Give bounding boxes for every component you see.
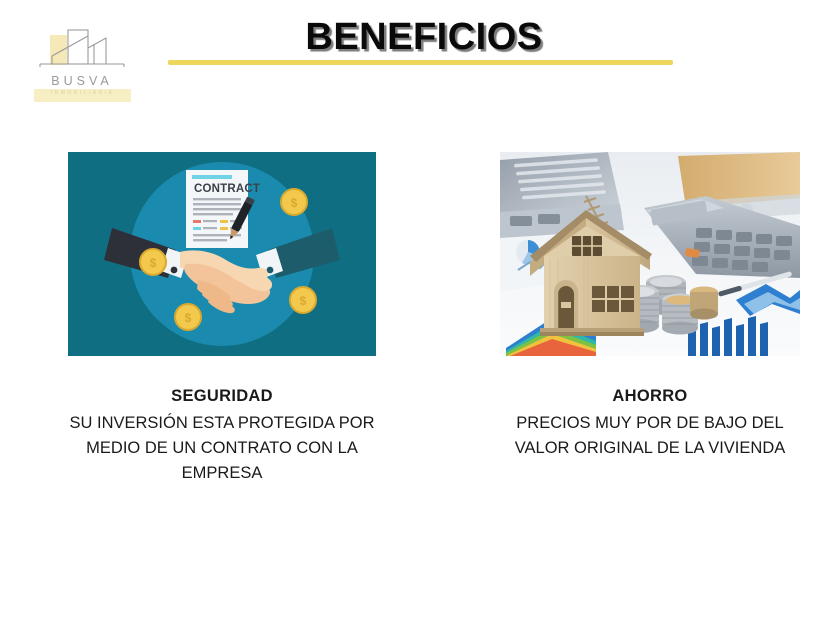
benefit-card-seguridad: CONTRACT bbox=[68, 152, 376, 486]
benefit-body: SU INVERSIÓN ESTA PROTEGIDA POR MEDIO DE… bbox=[68, 411, 376, 486]
benefit-heading: AHORRO bbox=[500, 384, 800, 409]
page-title: BENEFICIOS bbox=[0, 16, 840, 59]
svg-text:$: $ bbox=[150, 256, 157, 270]
benefit-card-ahorro: AHORRO PRECIOS MUY POR DE BAJO DEL VALOR… bbox=[500, 152, 800, 461]
svg-text:$: $ bbox=[185, 311, 192, 325]
model-house-coins-calculator-photo bbox=[500, 152, 800, 356]
logo-tagline: INMOBILIARIA bbox=[34, 90, 131, 96]
logo-wordmark: BUSVA bbox=[22, 74, 142, 88]
benefit-caption-ahorro: AHORRO PRECIOS MUY POR DE BAJO DEL VALOR… bbox=[500, 384, 800, 461]
title-underline-rule bbox=[168, 60, 673, 65]
handshake-contract-illustration: CONTRACT bbox=[68, 152, 376, 356]
svg-text:$: $ bbox=[291, 196, 298, 210]
benefit-caption-seguridad: SEGURIDAD SU INVERSIÓN ESTA PROTEGIDA PO… bbox=[68, 384, 376, 486]
benefit-heading: SEGURIDAD bbox=[68, 384, 376, 409]
svg-text:$: $ bbox=[300, 294, 307, 308]
svg-text:CONTRACT: CONTRACT bbox=[194, 183, 260, 195]
benefit-body: PRECIOS MUY POR DE BAJO DEL VALOR ORIGIN… bbox=[500, 411, 800, 461]
slide-root: BUSVA INMOBILIARIA BENEFICIOS CONTRACT bbox=[0, 0, 840, 630]
